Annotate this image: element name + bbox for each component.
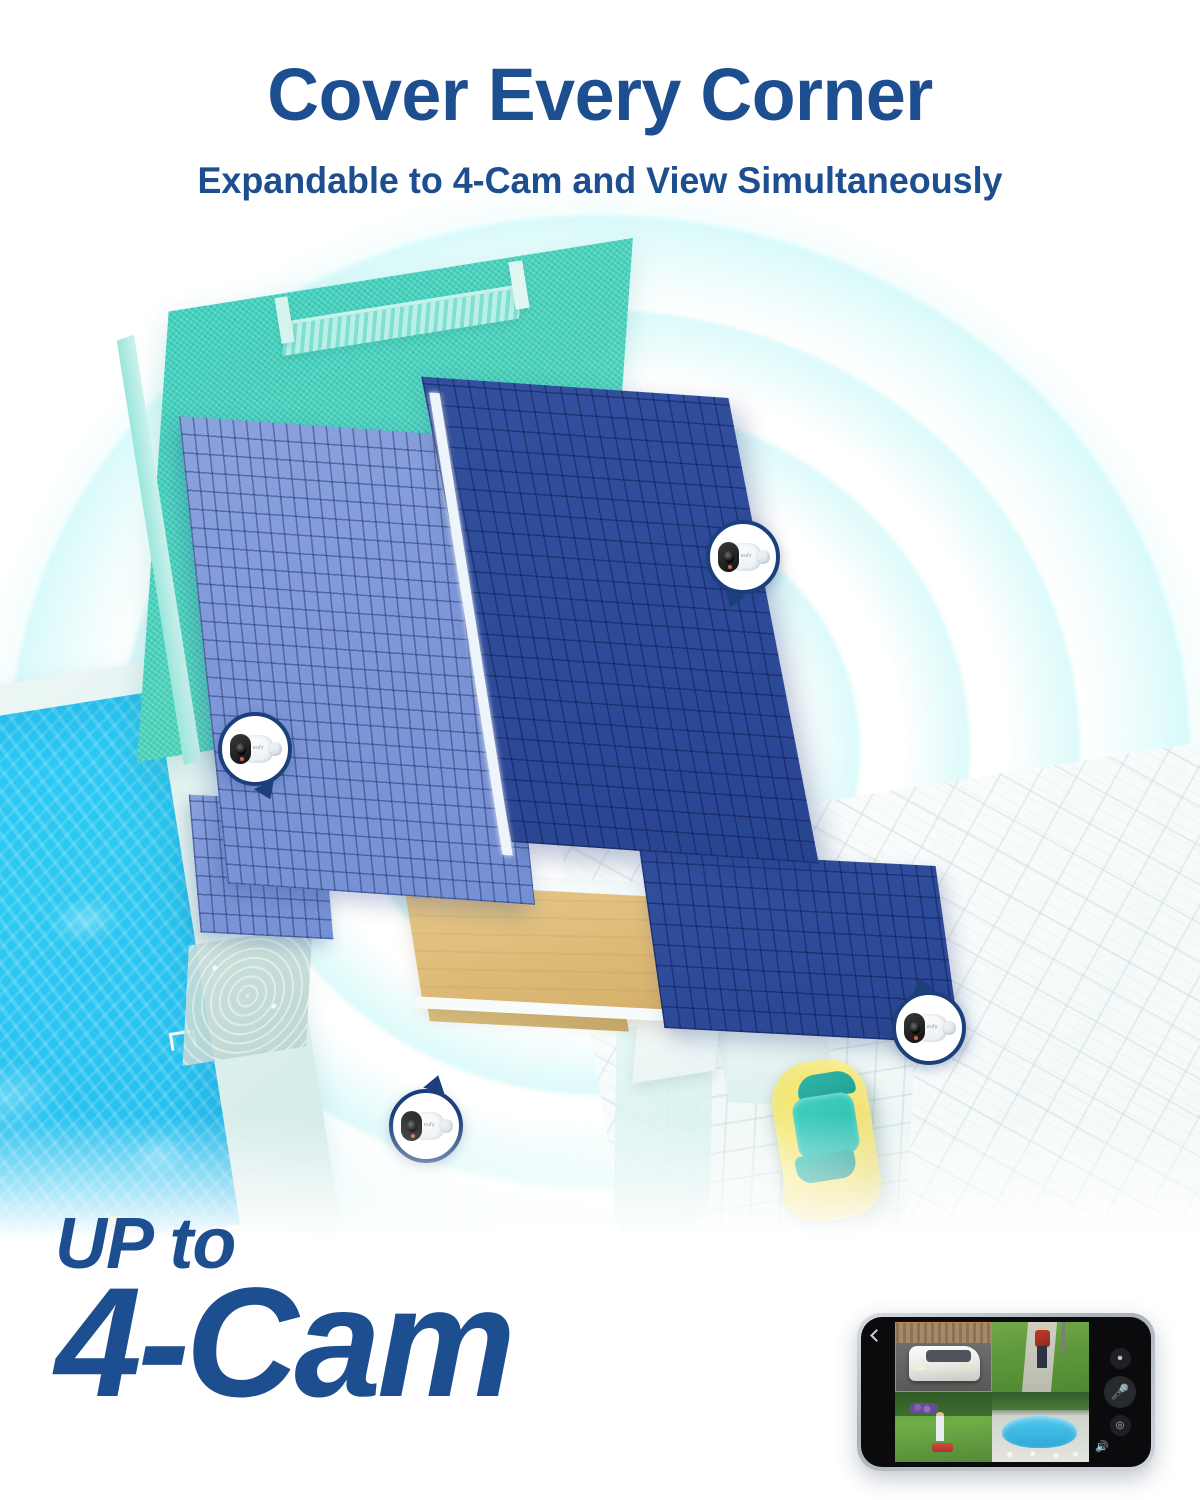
microphone-icon[interactable]: 🎤 xyxy=(1104,1376,1136,1408)
phone-control-bar: ⏺ 🎤 ◎ 🔊 xyxy=(1089,1317,1151,1467)
camera-feed-driveway[interactable] xyxy=(895,1322,992,1392)
bubble-tail xyxy=(423,1072,449,1093)
camera-feed-backyard-lawn[interactable] xyxy=(895,1392,992,1462)
feed-person-body xyxy=(936,1416,945,1441)
feed-flowerbed xyxy=(909,1403,938,1414)
promo-block: UP to 4-Cam xyxy=(55,1210,512,1416)
camera-bubble-lawn-left[interactable]: eufy xyxy=(218,712,292,786)
promo-4cam-label: 4-Cam xyxy=(55,1272,512,1416)
speaker-icon[interactable]: 🔊 xyxy=(1095,1440,1109,1453)
camera-feed-pool[interactable] xyxy=(992,1392,1089,1462)
patio-tiles xyxy=(183,926,313,1066)
security-camera-icon: eufy xyxy=(230,734,280,764)
phone-left-bar xyxy=(861,1317,895,1467)
record-icon[interactable]: ⏺ xyxy=(1110,1348,1131,1369)
snapshot-icon[interactable]: ◎ xyxy=(1110,1415,1131,1436)
phone-screen: ⏺ 🎤 ◎ 🔊 xyxy=(861,1317,1151,1467)
feed-white-suv xyxy=(909,1346,979,1381)
product-feature-banner: Cover Every Corner Expandable to 4-Cam a… xyxy=(0,0,1200,1500)
smartphone-mockup: ⏺ 🎤 ◎ 🔊 xyxy=(857,1313,1155,1471)
feed-pole xyxy=(1062,1322,1065,1354)
feed-hedge xyxy=(992,1392,1089,1410)
feed-person-legs xyxy=(1037,1346,1048,1368)
feed-person-torso xyxy=(1035,1330,1051,1347)
camera-bubble-garage-right[interactable]: eufy xyxy=(892,991,966,1065)
camera-bubble-roof-top[interactable]: eufy xyxy=(706,520,780,594)
security-camera-icon: eufy xyxy=(401,1111,451,1141)
camera-feed-front-path[interactable] xyxy=(992,1322,1089,1392)
security-camera-icon: eufy xyxy=(904,1013,954,1043)
camera-feed-grid xyxy=(895,1317,1089,1467)
camera-bubble-front-door[interactable]: eufy xyxy=(389,1089,463,1163)
feed-fence-background xyxy=(896,1323,991,1343)
back-chevron-icon[interactable] xyxy=(870,1329,883,1342)
feed-lawn-mower xyxy=(932,1443,953,1452)
security-camera-icon: eufy xyxy=(718,542,768,572)
house-scene-illustration: eufy eufy eufy xyxy=(0,185,1200,1315)
header-block: Cover Every Corner Expandable to 4-Cam a… xyxy=(0,0,1200,225)
feed-pool-water xyxy=(1002,1416,1078,1448)
page-subtitle: Expandable to 4-Cam and View Simultaneou… xyxy=(18,132,1182,199)
feed-pool-deck xyxy=(992,1447,1089,1462)
page-title: Cover Every Corner xyxy=(18,0,1182,132)
